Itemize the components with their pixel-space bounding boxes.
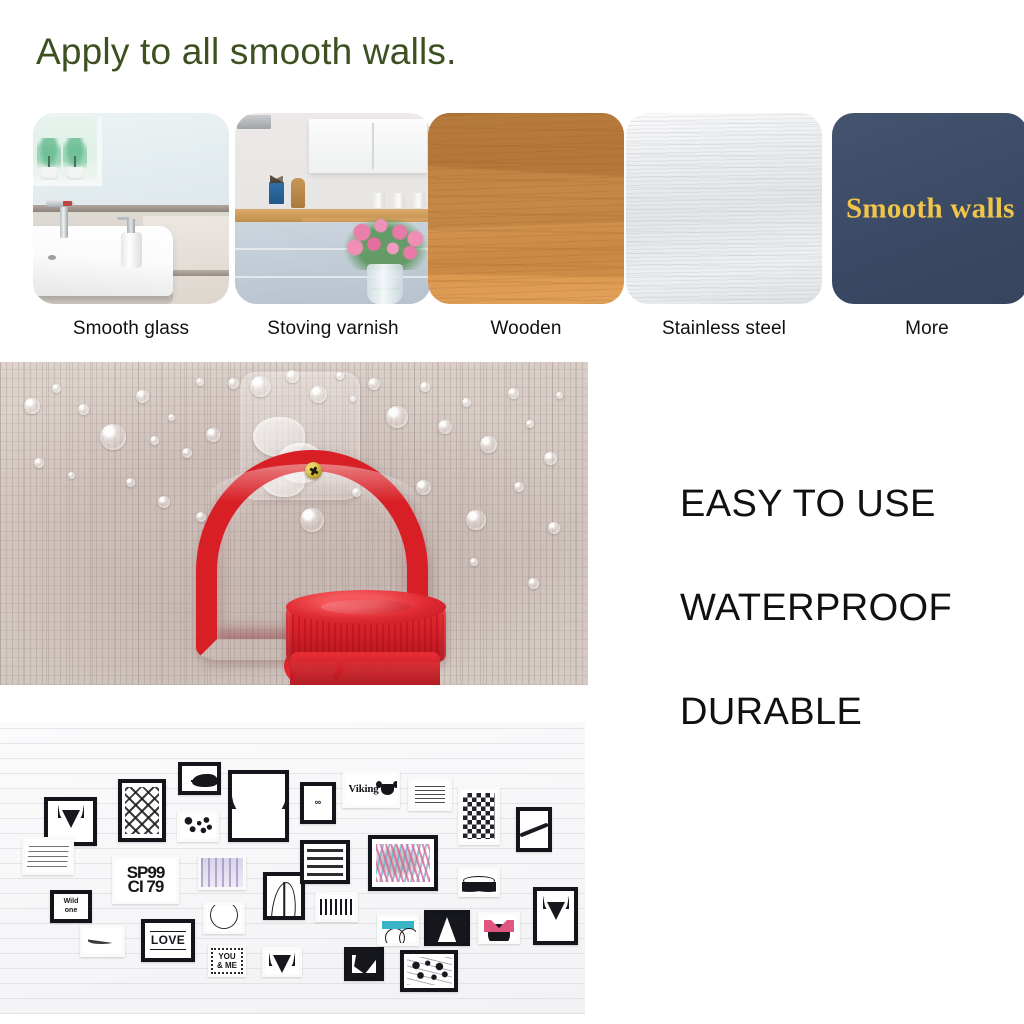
smooth-walls-text: Smooth walls	[846, 192, 1015, 225]
helmet-icon	[381, 784, 394, 795]
picture-frame	[22, 837, 74, 875]
surface-tile-row: Smooth glass Stoving varnish Wooden	[0, 113, 1024, 353]
soap-dispenser-icon	[121, 232, 142, 268]
picture-frame	[408, 777, 452, 811]
water-droplet-icon	[462, 398, 471, 407]
youme-art: YOU& ME	[211, 948, 243, 974]
navy-swatch: Smooth walls	[832, 113, 1024, 304]
deer-art	[48, 801, 93, 842]
window-icon	[33, 116, 102, 186]
bottle-cap-top	[286, 590, 446, 624]
picture-frame	[533, 887, 578, 945]
zebra-art	[376, 844, 431, 882]
deer-small-icon	[265, 950, 299, 974]
bike-banner	[382, 921, 414, 929]
water-droplet-icon	[68, 472, 75, 479]
water-droplet-icon	[286, 370, 299, 383]
picture-frame: YOU& ME	[208, 945, 246, 977]
rune-grid-icon	[411, 780, 449, 808]
deer-head-icon	[48, 801, 93, 842]
abstract-art	[348, 951, 380, 977]
arrow-bar	[150, 931, 186, 932]
water-droplet-icon	[310, 386, 327, 403]
water-droplet-icon	[136, 390, 149, 403]
feature-durable: DURABLE	[680, 691, 1010, 734]
bicycle-icon	[380, 917, 416, 943]
speckle-tree-icon	[180, 813, 216, 839]
wood-grain-swatch	[428, 113, 624, 304]
water-droplet-icon	[526, 420, 534, 428]
arrow-bar	[150, 949, 186, 950]
picture-frame: ∞	[300, 782, 336, 824]
surface-tile-stoving-varnish[interactable]: Stoving varnish	[235, 113, 431, 340]
water-droplet-icon	[78, 404, 89, 415]
flower-bouquet	[343, 216, 429, 304]
storage-jar-icon	[372, 193, 385, 208]
circle-minimal-icon	[206, 905, 242, 931]
picture-frame	[315, 892, 358, 922]
doodle-scene-icon	[404, 954, 454, 988]
diamond-pattern-icon	[122, 783, 162, 838]
screw-icon	[305, 462, 322, 479]
spci99-icon: SP99CI 79	[115, 859, 176, 901]
surface-tile-label: Smooth glass	[33, 318, 229, 340]
storage-jar-icon	[412, 193, 425, 208]
brush-stroke-icon	[83, 928, 122, 954]
picture-frame	[368, 835, 438, 891]
picture-frame	[177, 810, 219, 842]
cutting-board-icon	[291, 178, 305, 208]
rune-art	[307, 848, 344, 877]
water-droplet-icon	[438, 420, 452, 434]
wildone-art: Wildone	[54, 894, 88, 919]
picture-frame	[400, 950, 458, 992]
water-droplet-icon	[336, 372, 344, 380]
water-droplet-icon	[150, 436, 159, 445]
upper-cabinet	[309, 119, 427, 173]
abstract-cut-icon	[348, 951, 380, 977]
viking-helmet-icon: Viking	[345, 773, 397, 805]
picture-frame	[516, 807, 552, 852]
picture-frame: LOVE	[141, 919, 195, 962]
wild-one-icon: Wildone	[54, 894, 88, 919]
checker-grid-icon	[461, 790, 497, 842]
water-droplet-icon	[556, 392, 563, 399]
water-droplet-icon	[544, 452, 557, 465]
mono-art: ∞	[304, 786, 332, 820]
checker-art	[463, 793, 495, 840]
surface-tile-label: Stainless steel	[626, 318, 822, 340]
antler-art	[232, 774, 285, 838]
surface-tile-wooden[interactable]: Wooden	[428, 113, 624, 340]
geometric-deer-icon	[537, 891, 574, 941]
utensil-holder-icon	[269, 182, 284, 204]
you-and-me-icon: YOU& ME	[211, 948, 243, 974]
moustache-art	[461, 870, 497, 894]
water-droplet-icon	[548, 522, 560, 534]
brush-art	[83, 928, 122, 954]
surface-tile-smooth-glass[interactable]: Smooth glass	[33, 113, 229, 340]
forest-art	[201, 858, 243, 887]
picture-frame: SP99CI 79	[112, 856, 179, 904]
water-droplet-icon	[100, 424, 126, 450]
you-me-text: YOU& ME	[217, 952, 237, 970]
water-droplet-icon	[250, 376, 271, 397]
script-art	[27, 845, 69, 867]
water-droplet-icon	[206, 428, 220, 442]
bird-art	[182, 766, 217, 791]
faucet-icon	[60, 204, 68, 238]
surface-tile-label: Wooden	[428, 318, 624, 340]
love-art: LOVE	[145, 931, 191, 950]
water-droplet-icon	[126, 478, 135, 487]
barcode-art	[320, 899, 353, 916]
speckle-art	[183, 816, 214, 836]
glass-vase-icon	[367, 264, 403, 304]
flower-pot-icon	[40, 167, 58, 180]
picture-frame	[377, 914, 419, 946]
water-droplet-icon	[228, 378, 239, 389]
spci-text: SP99CI 79	[127, 866, 165, 895]
water-droplet-icon	[470, 558, 478, 566]
love-arrows-icon: LOVE	[145, 923, 191, 958]
doodle-art	[407, 957, 452, 984]
moustache-glasses-icon	[461, 870, 497, 894]
bird-silhouette-icon	[182, 766, 217, 791]
purple-forest-deer-icon	[201, 858, 243, 887]
clock-hands-icon	[520, 811, 548, 848]
picture-frame	[198, 855, 246, 890]
hook-demo-photo	[0, 362, 588, 685]
script-note-icon	[25, 840, 71, 872]
picture-frame	[118, 779, 166, 842]
water-droplet-icon	[508, 388, 519, 399]
bike-art	[380, 917, 416, 943]
water-droplet-icon	[24, 398, 40, 414]
diamond-art	[125, 787, 159, 834]
clock-art	[520, 811, 548, 848]
circle-art	[206, 905, 242, 931]
water-droplet-icon	[52, 384, 61, 393]
brushed-steel-swatch	[626, 113, 822, 304]
gallery-wall-photo: SP99CI 79 Wildone LOVE YOU& ME ∞ Viking	[0, 722, 585, 1014]
picture-frame	[263, 872, 305, 920]
water-droplet-icon	[480, 436, 497, 453]
picture-frame	[300, 840, 350, 884]
sink-basin	[33, 226, 173, 296]
tree-art	[428, 914, 466, 942]
viking-text: Viking	[348, 783, 378, 795]
french-bulldog-icon	[481, 915, 517, 941]
picture-frame	[178, 762, 221, 795]
picture-frame	[80, 925, 125, 957]
water-droplet-icon	[528, 578, 539, 589]
water-droplet-icon	[158, 496, 170, 508]
rune-letters-icon	[304, 844, 346, 880]
picture-frame	[458, 867, 500, 897]
water-droplet-icon	[182, 448, 192, 458]
love-text: LOVE	[151, 934, 185, 947]
flower-pot-icon	[66, 167, 84, 180]
colorful-zebra-icon	[372, 839, 434, 887]
spci-art: SP99CI 79	[115, 859, 176, 901]
picture-frame	[424, 910, 470, 946]
mono-text: ∞	[315, 798, 321, 808]
picture-frame	[228, 770, 289, 842]
dog-art	[481, 915, 517, 941]
picture-frame	[458, 787, 500, 845]
water-droplet-icon	[350, 396, 356, 402]
deer-art	[537, 891, 574, 941]
surface-tile-stainless-steel[interactable]: Stainless steel	[626, 113, 822, 340]
feature-list: EASY TO USE WATERPROOF DURABLE	[680, 483, 1010, 734]
bottle-shoulder	[290, 652, 440, 685]
bathroom-sink-photo	[33, 113, 229, 304]
water-droplet-icon	[368, 378, 380, 390]
viking-art: Viking	[345, 773, 397, 805]
storage-jar-icon	[392, 193, 405, 208]
water-droplet-icon	[420, 382, 430, 392]
leaf-art	[267, 876, 301, 916]
water-droplet-icon	[386, 406, 408, 428]
barcode-lines-icon	[318, 895, 355, 919]
water-droplet-icon	[466, 510, 486, 530]
surface-tile-label: Stoving varnish	[235, 318, 431, 340]
mono-art-icon: ∞	[304, 786, 332, 820]
water-droplet-icon	[168, 414, 175, 421]
feature-waterproof: WATERPROOF	[680, 587, 1010, 630]
water-droplet-icon	[196, 378, 204, 386]
picture-frame	[478, 912, 520, 944]
picture-frame	[262, 947, 302, 977]
deer-art	[265, 950, 299, 974]
picture-frame	[344, 947, 384, 981]
picture-frame	[203, 902, 245, 934]
wild-one-text: Wildone	[64, 898, 79, 915]
surface-tile-label: More	[826, 318, 1024, 340]
picture-frame: Viking	[342, 770, 400, 808]
picture-frame: Wildone	[50, 890, 92, 923]
surface-tile-more[interactable]: Smooth walls More	[832, 113, 1024, 340]
water-droplet-icon	[514, 482, 524, 492]
rune-lines-art	[415, 785, 445, 802]
leaf-outline-icon	[267, 876, 301, 916]
feature-easy-to-use: EASY TO USE	[680, 483, 1010, 526]
antler-quote-icon	[232, 774, 285, 838]
range-hood-icon	[237, 115, 271, 129]
page-title: Apply to all smooth walls.	[36, 33, 457, 72]
pine-tree-icon	[428, 914, 466, 942]
kitchen-cabinets-photo	[235, 113, 431, 304]
water-droplet-icon	[34, 458, 44, 468]
